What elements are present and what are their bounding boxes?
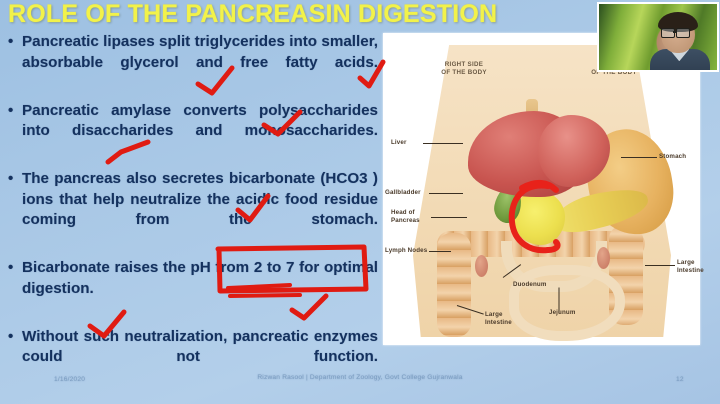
- label-line1: Large: [485, 311, 503, 318]
- presentation-slide: ROLE OF THE PANCREASIN DIGESTION • Pancr…: [0, 0, 720, 404]
- label-large-intestine-left: Large Intestine: [485, 311, 512, 326]
- bullet-marker-icon: •: [8, 101, 13, 122]
- glasses-icon: [676, 28, 690, 38]
- leader-line-stomach: [621, 157, 657, 158]
- label-liver: Liver: [391, 139, 407, 147]
- label-lymph-nodes: Lymph Nodes: [385, 247, 427, 255]
- side-label-line2: OF THE BODY: [441, 69, 487, 76]
- leader-line-liver: [423, 143, 463, 144]
- page-title: ROLE OF THE PANCREASIN DIGESTION: [8, 0, 488, 30]
- jejunum-shape: [509, 265, 625, 341]
- label-head-of-pancreas: Head of Pancreas: [391, 209, 420, 224]
- bullet-bicarbonate: • The pancreas also secretes bicarbonate…: [6, 169, 378, 251]
- bullet-marker-icon: •: [8, 327, 13, 348]
- glasses-bridge-icon: [673, 31, 677, 32]
- label-gallbladder: Gallbladder: [385, 189, 421, 197]
- leader-line-head-of-pancreas: [431, 217, 467, 218]
- bullet-list: • Pancreatic lipases split triglycerides…: [6, 32, 378, 395]
- label-line2: Intestine: [485, 319, 512, 326]
- footer-page-number: 12: [676, 376, 684, 383]
- bullet-marker-icon: •: [8, 32, 13, 53]
- bullet-text: Bicarbonate raises the pH from 2 to 7 fo…: [22, 258, 378, 320]
- bullet-lipases: • Pancreatic lipases split triglycerides…: [6, 32, 378, 94]
- label-line2: Intestine: [677, 267, 704, 274]
- footer-credit: Rizwan Rasool | Department of Zoology, G…: [245, 373, 475, 383]
- bullet-ph: • Bicarbonate raises the pH from 2 to 7 …: [6, 258, 378, 320]
- bullet-amylase: • Pancreatic amylase converts polysaccha…: [6, 101, 378, 163]
- leader-line-gallbladder: [429, 193, 463, 194]
- leader-line-lymph-nodes: [429, 251, 451, 252]
- bullet-text: Pancreatic lipases split triglycerides i…: [22, 32, 378, 94]
- presenter-figure: [653, 13, 714, 70]
- label-large-intestine-right: Large Intestine: [677, 259, 704, 274]
- bullet-text: The pancreas also secretes bicarbonate (…: [22, 169, 378, 251]
- label-stomach: Stomach: [659, 153, 686, 161]
- slide-footer: 1/16/2020 Rizwan Rasool | Department of …: [0, 366, 720, 404]
- label-line1: Head of: [391, 209, 415, 216]
- presenter-video-overlay[interactable]: [597, 2, 719, 72]
- label-jejunum: Jejunum: [549, 309, 576, 317]
- bullet-text: Pancreatic amylase converts polysacchari…: [22, 101, 378, 163]
- bullet-marker-icon: •: [8, 169, 13, 190]
- bullet-marker-icon: •: [8, 258, 13, 279]
- glasses-icon: [661, 28, 675, 38]
- anatomy-diagram: RIGHT SIDE OF THE BODY OF THE BODY Liver: [383, 33, 700, 345]
- label-duodenum: Duodenum: [513, 281, 547, 289]
- label-line1: Large: [677, 259, 695, 266]
- footer-date: 1/16/2020: [54, 376, 85, 383]
- lymph-node-shape: [597, 247, 610, 269]
- label-line2: Pancreas: [391, 217, 420, 224]
- leader-line-large-intestine-right: [645, 265, 675, 266]
- side-label-line1: RIGHT SIDE: [445, 61, 483, 68]
- right-side-of-body-label: RIGHT SIDE OF THE BODY: [429, 61, 499, 77]
- lymph-node-shape: [475, 255, 488, 277]
- ascending-colon: [437, 233, 471, 337]
